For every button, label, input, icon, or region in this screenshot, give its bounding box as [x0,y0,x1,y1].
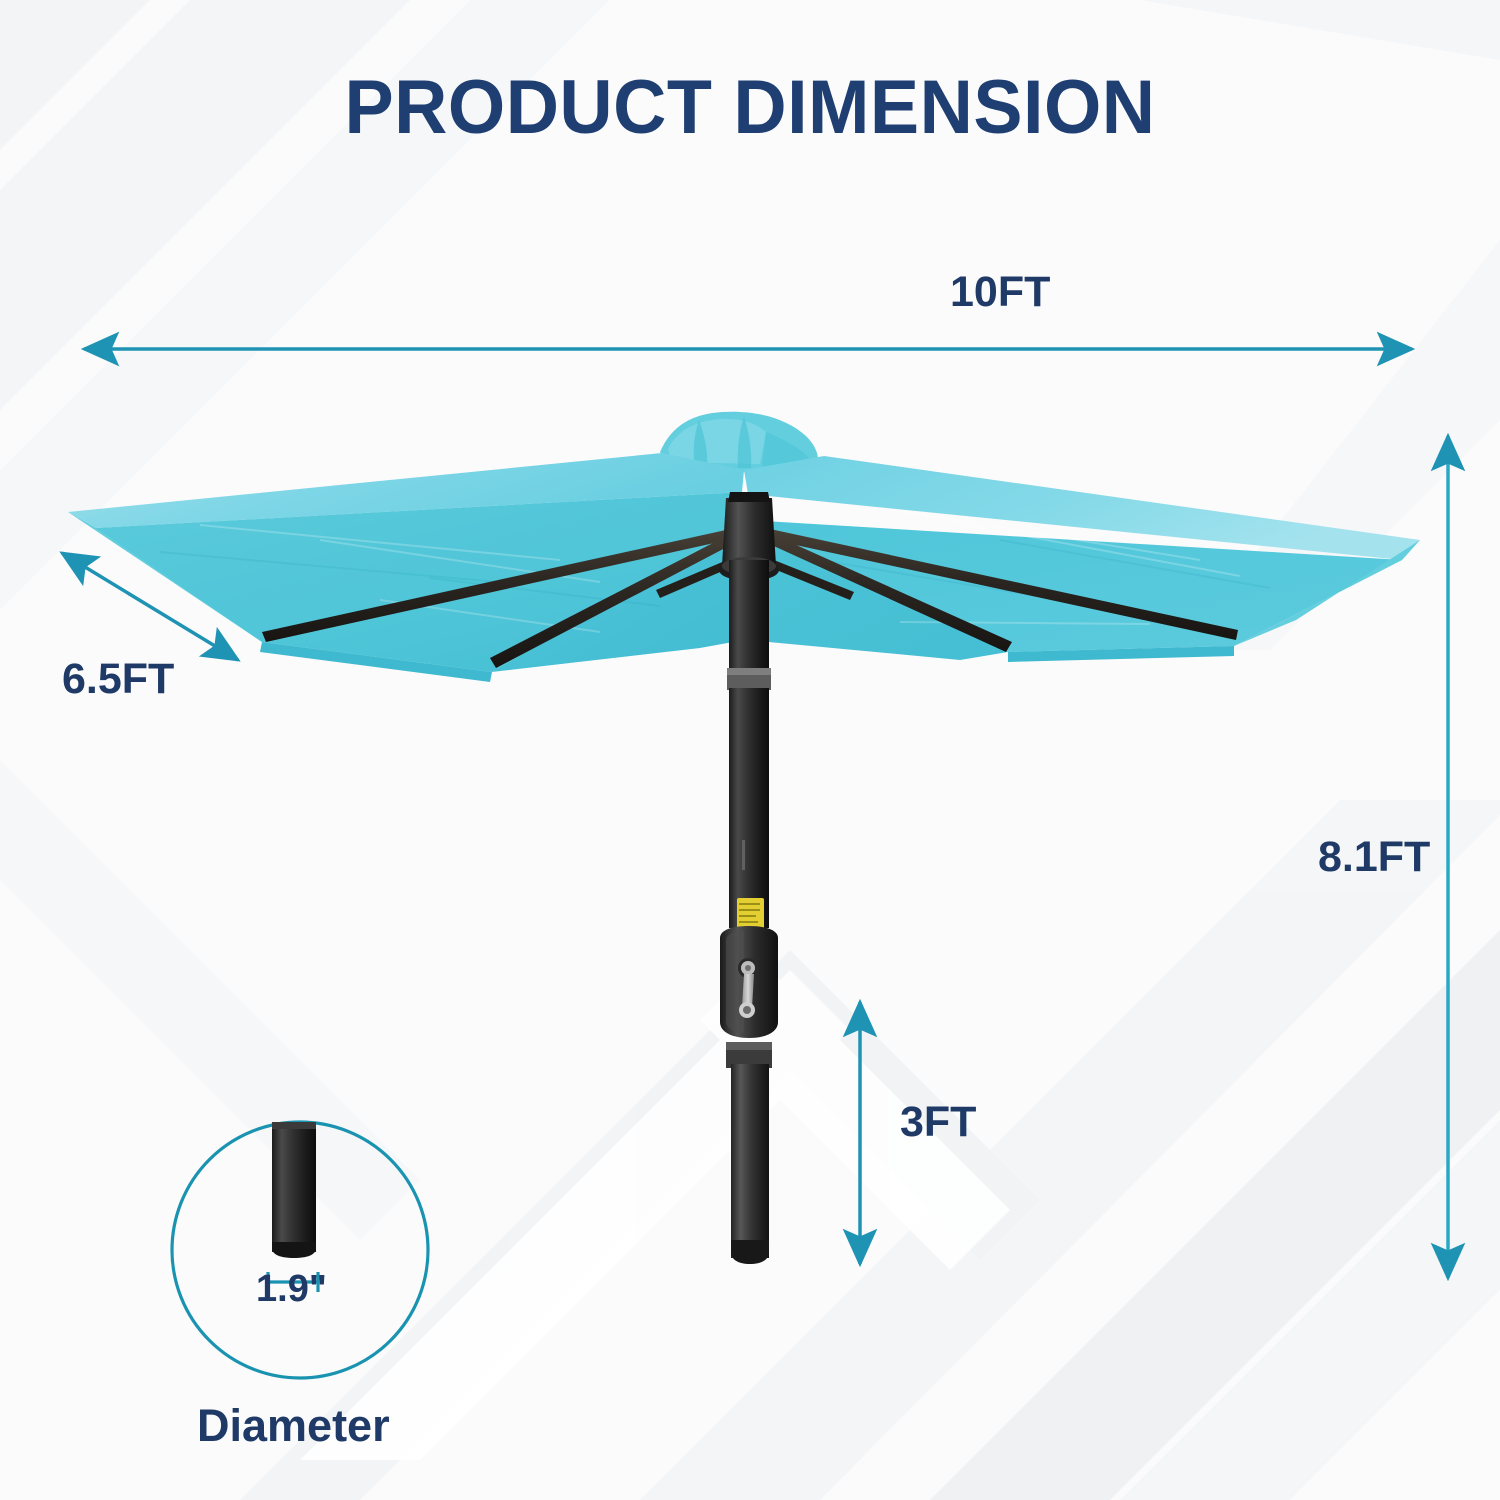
page-title: PRODUCT DIMENSION [23,64,1478,151]
inset-pole-sample [272,1122,316,1252]
pole-lower [731,1064,769,1258]
diameter-inset [172,1122,428,1378]
dimension-label-pole: 3FT [900,1098,976,1147]
inset-measure-label: 1.9" [256,1268,327,1311]
pole-upper [729,560,769,682]
dimension-label-height: 8.1FT [1318,833,1430,882]
pole-middle [729,688,769,928]
umbrella-diagram [0,0,1500,1500]
dimension-label-depth: 6.5FT [62,655,174,704]
pole-foot [731,1240,769,1264]
product-dimension-infographic: PRODUCT DIMENSION 10FT 6.5FT 8.1FT 3FT 1… [0,0,1500,1500]
inset-caption: Diameter [197,1400,390,1452]
dimension-label-width: 10FT [950,268,1050,317]
umbrella-graphic [68,412,1420,1264]
